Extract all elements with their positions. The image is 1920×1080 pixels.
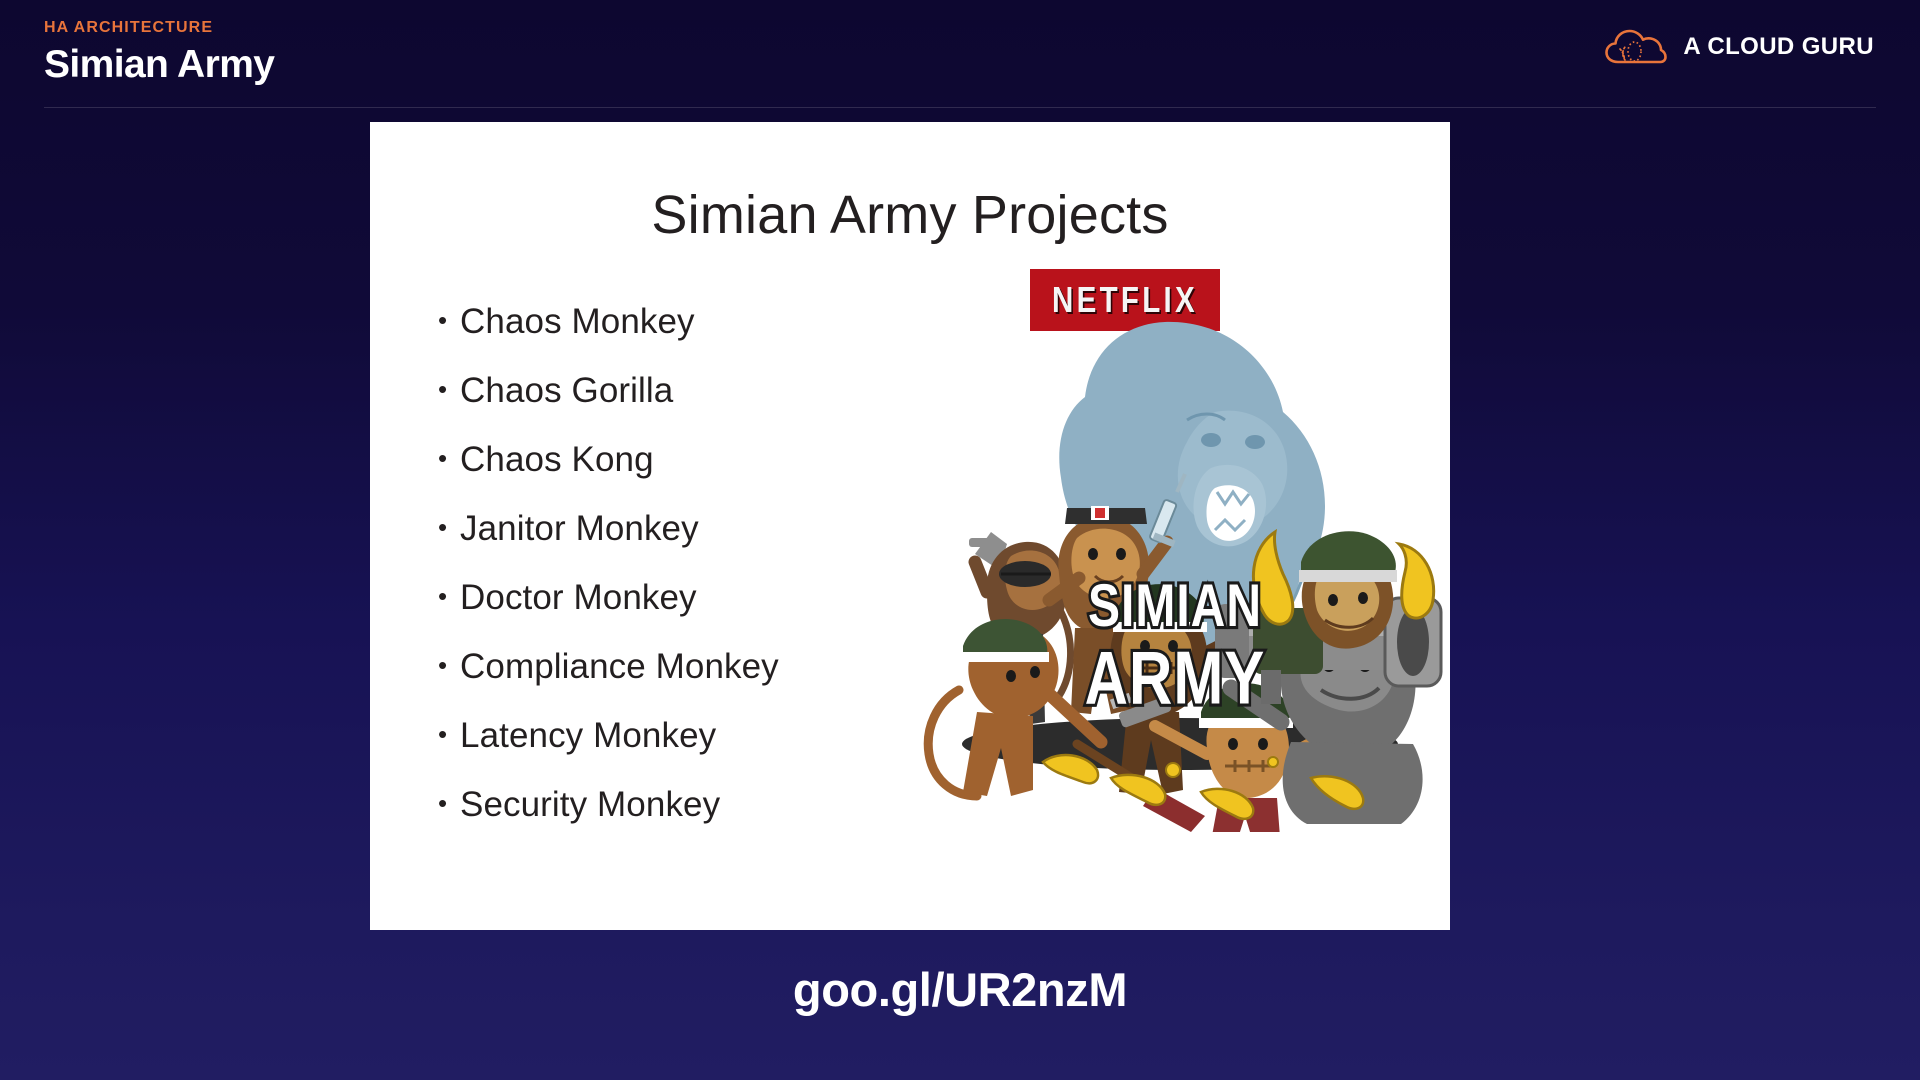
slide-viewer: HA ARCHITECTURE Simian Army A CLOUD GURU… [0,0,1920,1080]
simian-army-illustration [915,292,1445,832]
list-item: • Chaos Monkey [438,302,898,371]
bullet-marker-icon: • [438,583,460,609]
bullet-marker-icon: • [438,790,460,816]
list-item-label: Chaos Gorilla [460,371,673,411]
bullet-marker-icon: • [438,307,460,333]
list-item: • Compliance Monkey [438,647,898,716]
list-item: • Chaos Gorilla [438,371,898,440]
header-divider [44,107,1876,108]
short-url: goo.gl/UR2nzM [0,962,1920,1017]
slide-title: Simian Army Projects [370,184,1450,246]
bullet-marker-icon: • [438,514,460,540]
list-item: • Doctor Monkey [438,578,898,647]
cloud-icon [1605,27,1667,67]
brand-logo[interactable]: A CLOUD GURU [1605,27,1874,67]
page-header: HA ARCHITECTURE Simian Army A CLOUD GURU [0,0,1920,108]
page-title: Simian Army [44,41,274,89]
projects-list: • Chaos Monkey • Chaos Gorilla • Chaos K… [438,302,898,854]
list-item-label: Doctor Monkey [460,578,697,618]
list-item-label: Chaos Monkey [460,302,695,342]
bullet-marker-icon: • [438,721,460,747]
slide-canvas: Simian Army Projects • Chaos Monkey • Ch… [370,122,1450,930]
list-item: • Chaos Kong [438,440,898,509]
list-item: • Janitor Monkey [438,509,898,578]
list-item-label: Compliance Monkey [460,647,779,687]
list-item: • Latency Monkey [438,716,898,785]
bullet-marker-icon: • [438,376,460,402]
bullet-marker-icon: • [438,445,460,471]
list-item-label: Janitor Monkey [460,509,699,549]
bullet-marker-icon: • [438,652,460,678]
brand-name: A CLOUD GURU [1683,33,1874,61]
course-eyebrow: HA ARCHITECTURE [44,18,274,38]
list-item-label: Security Monkey [460,785,720,825]
list-item: • Security Monkey [438,785,898,854]
list-item-label: Latency Monkey [460,716,716,756]
list-item-label: Chaos Kong [460,440,654,480]
header-title-group: HA ARCHITECTURE Simian Army [44,18,274,89]
